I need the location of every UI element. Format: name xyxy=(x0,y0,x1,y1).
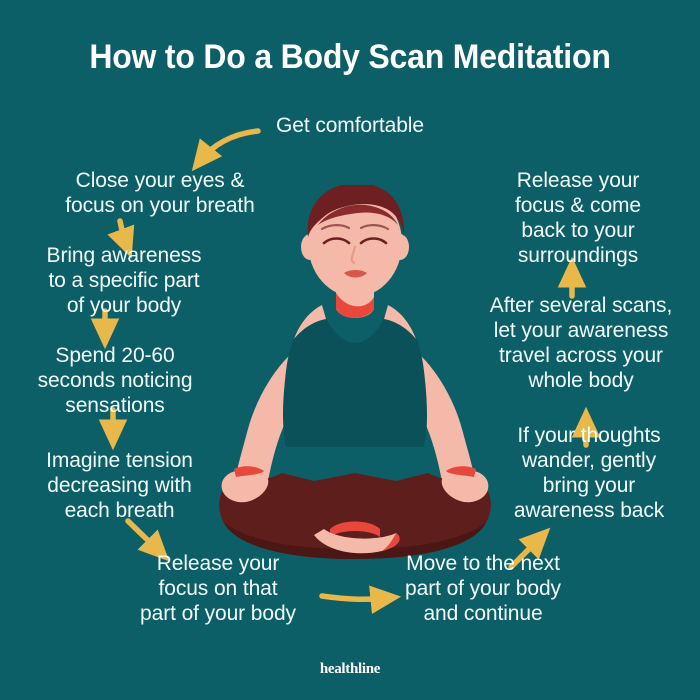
step-imagine-tension-decreasing: Imagine tension decreasing with each bre… xyxy=(12,448,227,523)
healthline-logo: healthline xyxy=(0,661,700,678)
step-after-several-scans: After several scans, let your awareness … xyxy=(466,293,696,393)
arrow-6 xyxy=(322,596,388,599)
step-spend-20-60-seconds: Spend 20-60 seconds noticing sensations xyxy=(10,343,220,418)
step-release-focus-come-back: Release your focus & come back to your s… xyxy=(478,168,678,268)
step-if-thoughts-wander: If your thoughts wander, gently bring yo… xyxy=(484,423,694,523)
step-close-your-eyes: Close your eyes & focus on your breath xyxy=(30,168,290,218)
step-release-focus-on-that-part: Release your focus on that part of your … xyxy=(108,551,328,626)
step-get-comfortable: Get comfortable xyxy=(235,113,465,138)
step-bring-awareness: Bring awareness to a specific part of yo… xyxy=(14,243,234,318)
step-move-to-next-part: Move to the next part of your body and c… xyxy=(383,551,583,626)
arrow-5 xyxy=(128,521,160,552)
infographic-canvas: How to Do a Body Scan Meditation xyxy=(0,0,700,700)
page-title: How to Do a Body Scan Meditation xyxy=(21,38,679,77)
